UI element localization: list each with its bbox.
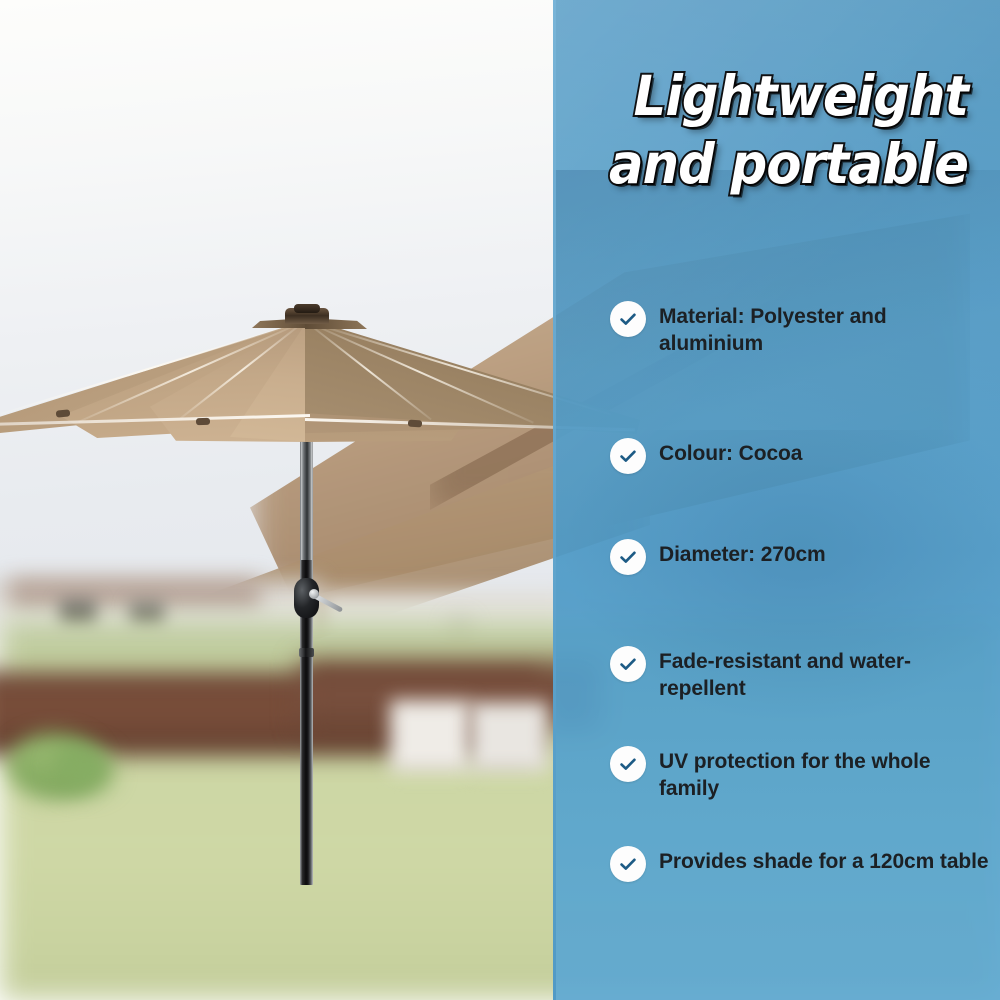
canopy-rib-tip: [196, 418, 210, 425]
feature-label: Colour: Cocoa: [659, 437, 802, 467]
feature-item-material: Material: Polyester and aluminium: [610, 300, 990, 357]
canopy-finial: [294, 304, 320, 313]
canopy-rib-tip: [408, 420, 422, 428]
feature-item-uv-protection: UV protection for the whole family: [610, 745, 990, 802]
umbrella-crank-knob: [309, 589, 319, 599]
check-circle-icon: [610, 438, 646, 474]
feature-label: Provides shade for a 120cm table: [659, 845, 988, 875]
page-title: Lightweight and portable: [589, 62, 968, 198]
feature-item-diameter: Diameter: 270cm: [610, 538, 990, 575]
feature-label: Diameter: 270cm: [659, 538, 826, 568]
check-circle-icon: [610, 846, 646, 882]
feature-item-fade-resistant: Fade-resistant and water-repellent: [610, 645, 990, 702]
feature-label: Fade-resistant and water-repellent: [659, 645, 989, 702]
panel-left-edge: [553, 0, 556, 1000]
product-feature-banner: Lightweight and portable Material: Polye…: [0, 0, 1000, 1000]
check-circle-icon: [610, 539, 646, 575]
check-circle-icon: [610, 646, 646, 682]
check-circle-icon: [610, 301, 646, 337]
feature-item-shade-table: Provides shade for a 120cm table: [610, 845, 990, 882]
feature-label: Material: Polyester and aluminium: [659, 300, 989, 357]
feature-label: UV protection for the whole family: [659, 745, 989, 802]
feature-item-colour: Colour: Cocoa: [610, 437, 990, 474]
check-circle-icon: [610, 746, 646, 782]
heading-line-2: and portable: [589, 130, 968, 198]
heading-line-1: Lightweight: [589, 62, 968, 130]
